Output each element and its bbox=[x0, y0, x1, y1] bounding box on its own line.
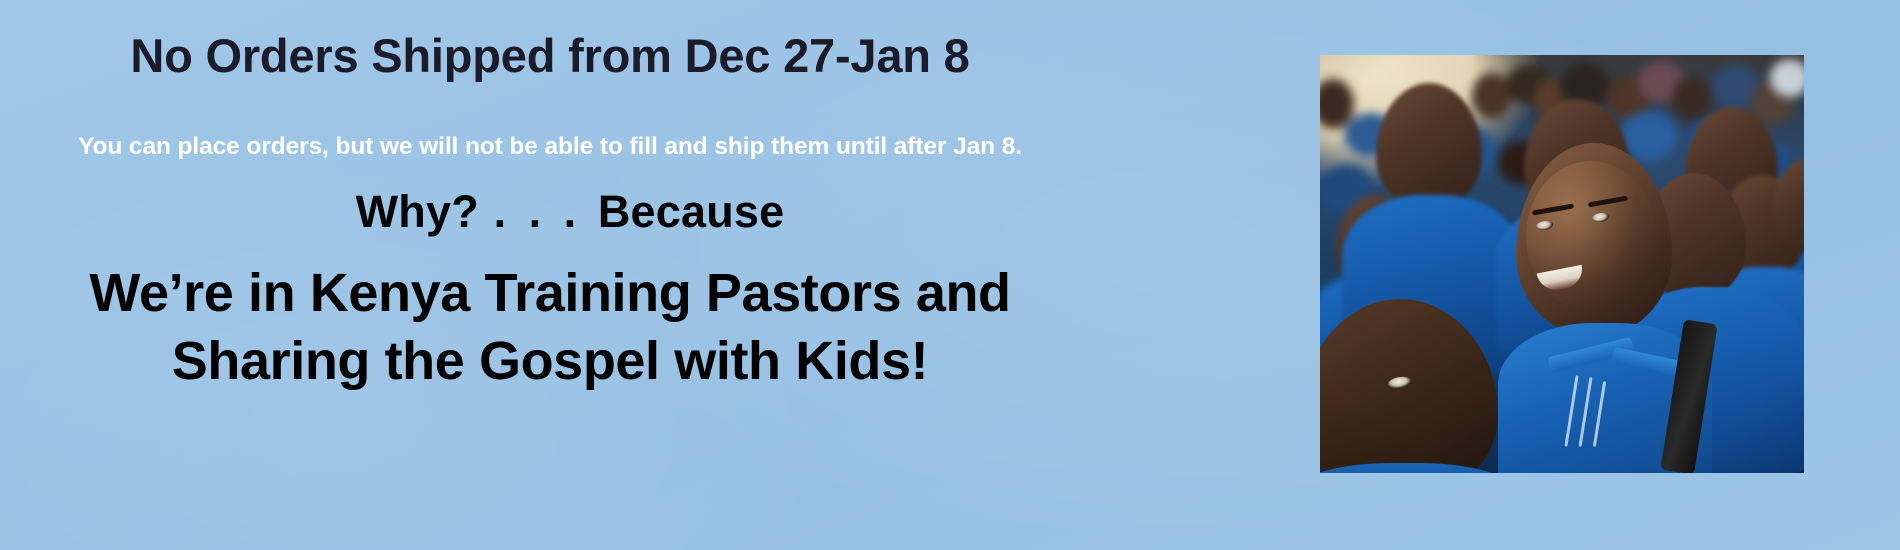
banner-subheadline: You can place orders, but we will not be… bbox=[0, 133, 1100, 161]
why-ellipsis-text: . . . bbox=[492, 186, 586, 237]
banner-text-column: No Orders Shipped from Dec 27-Jan 8 You … bbox=[0, 0, 1290, 550]
why-prefix-text: Why? bbox=[356, 186, 479, 237]
banner-headline: No Orders Shipped from Dec 27-Jan 8 bbox=[0, 28, 1100, 83]
promo-banner: No Orders Shipped from Dec 27-Jan 8 You … bbox=[0, 0, 1900, 550]
banner-why-line: Why? . . . Because bbox=[0, 186, 1140, 238]
why-suffix-text: Because bbox=[598, 186, 785, 237]
kenya-children-photo bbox=[1320, 55, 1804, 473]
banner-message-line-2: Sharing the Gospel with Kids! bbox=[0, 330, 1100, 392]
banner-message-line-1: We’re in Kenya Training Pastors and bbox=[0, 262, 1100, 324]
